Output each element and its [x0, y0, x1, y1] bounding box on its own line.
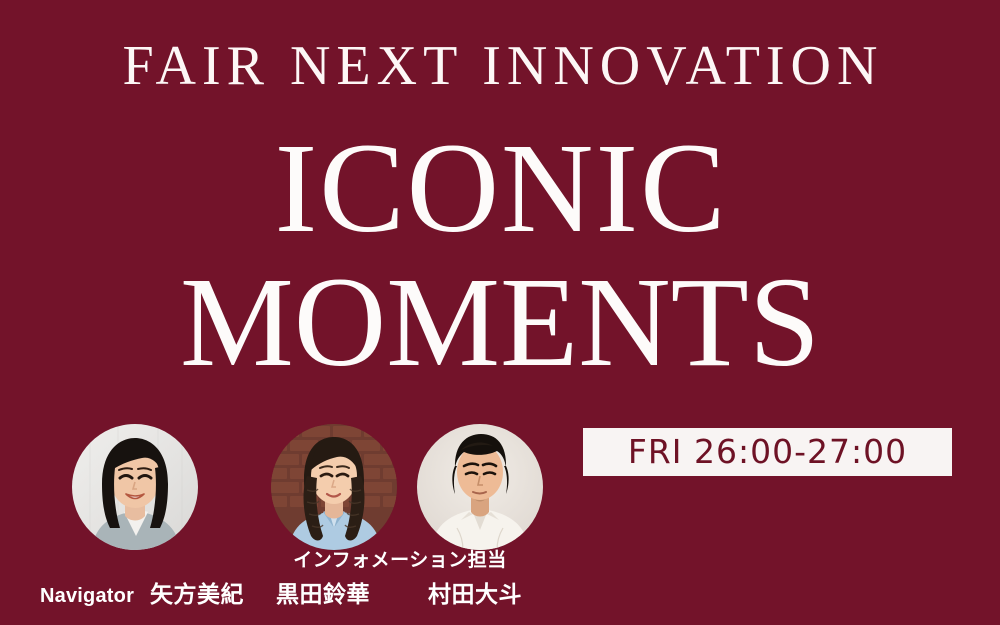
schedule-badge-text: FRI 26:00-27:00: [628, 435, 907, 468]
portrait-man-white-shirt-icon: [417, 424, 543, 550]
poster-title-line-1: ICONIC: [0, 124, 1000, 252]
cast-role-navigator: Navigator: [40, 585, 134, 607]
role-label-information: インフォメーション担当: [270, 551, 530, 570]
poster-canvas: FAIR NEXT INNOVATION ICONIC MOMENTS FRI …: [0, 0, 1000, 625]
cast-name-3: 村田大斗: [428, 584, 522, 607]
portrait-woman-braids-icon: [271, 424, 397, 550]
schedule-badge: FRI 26:00-27:00: [583, 428, 952, 476]
avatar: [271, 424, 397, 550]
poster-kicker: FAIR NEXT INNOVATION: [0, 38, 1000, 94]
avatar: [72, 424, 198, 550]
avatar: [417, 424, 543, 550]
cast-name-2: 黒田鈴華: [276, 584, 370, 607]
portrait-woman-bob-hair-icon: [72, 424, 198, 550]
poster-title-line-2: MOMENTS: [0, 258, 1000, 386]
cast-name-1: Navigator矢方美紀: [40, 584, 244, 607]
cast-name-label-1: 矢方美紀: [150, 582, 244, 608]
